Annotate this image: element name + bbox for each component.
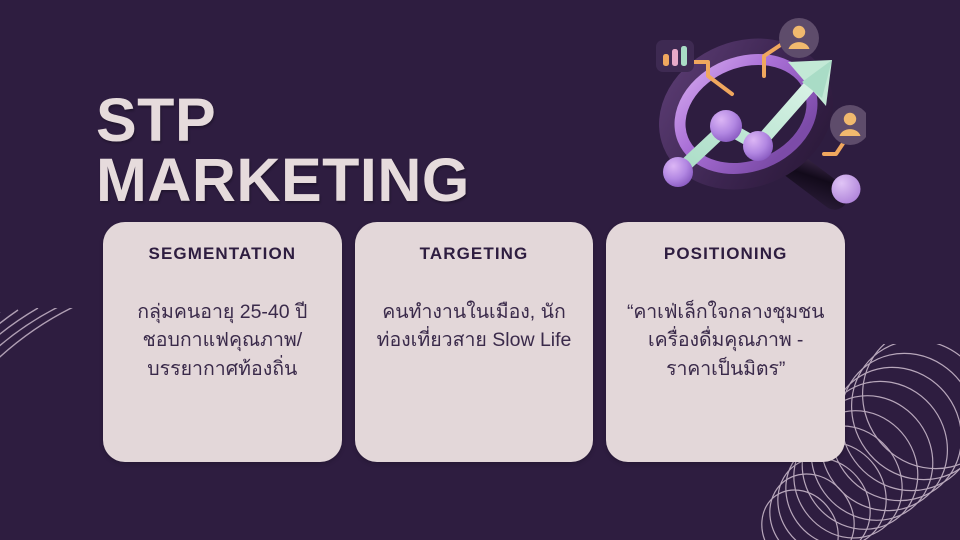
card-title-positioning: POSITIONING — [620, 244, 831, 264]
page-title: STP MARKETING — [96, 91, 696, 211]
card-body-segmentation: กลุ่มคนอายุ 25-40 ปี ชอบกาแฟคุณภาพ/ บรรย… — [117, 298, 328, 383]
card-positioning[interactable]: POSITIONING “คาเฟ่เล็กใจกลางชุมชน เครื่อ… — [606, 222, 845, 462]
data-point-node — [743, 131, 773, 161]
slide-canvas: STP MARKETING — [0, 0, 960, 540]
card-title-segmentation: SEGMENTATION — [117, 244, 328, 264]
data-point-node — [710, 110, 742, 142]
bar-chart-icon — [656, 40, 694, 72]
data-point-node — [663, 157, 693, 187]
card-title-targeting: TARGETING — [369, 244, 580, 264]
card-targeting[interactable]: TARGETING คนทำงานในเมือง, นัก ท่องเที่ยว… — [355, 222, 594, 462]
magnifying-glass-growth-chart-illustration — [636, 14, 866, 214]
user-avatar-icon — [830, 105, 866, 145]
user-avatar-icon — [779, 18, 819, 58]
card-body-positioning: “คาเฟ่เล็กใจกลางชุมชน เครื่องดื่มคุณภาพ … — [620, 298, 831, 383]
card-segmentation[interactable]: SEGMENTATION กลุ่มคนอายุ 25-40 ปี ชอบกาแ… — [103, 222, 342, 462]
stp-cards-row: SEGMENTATION กลุ่มคนอายุ 25-40 ปี ชอบกาแ… — [103, 222, 845, 462]
card-body-targeting: คนทำงานในเมือง, นัก ท่องเที่ยวสาย Slow L… — [369, 298, 580, 355]
